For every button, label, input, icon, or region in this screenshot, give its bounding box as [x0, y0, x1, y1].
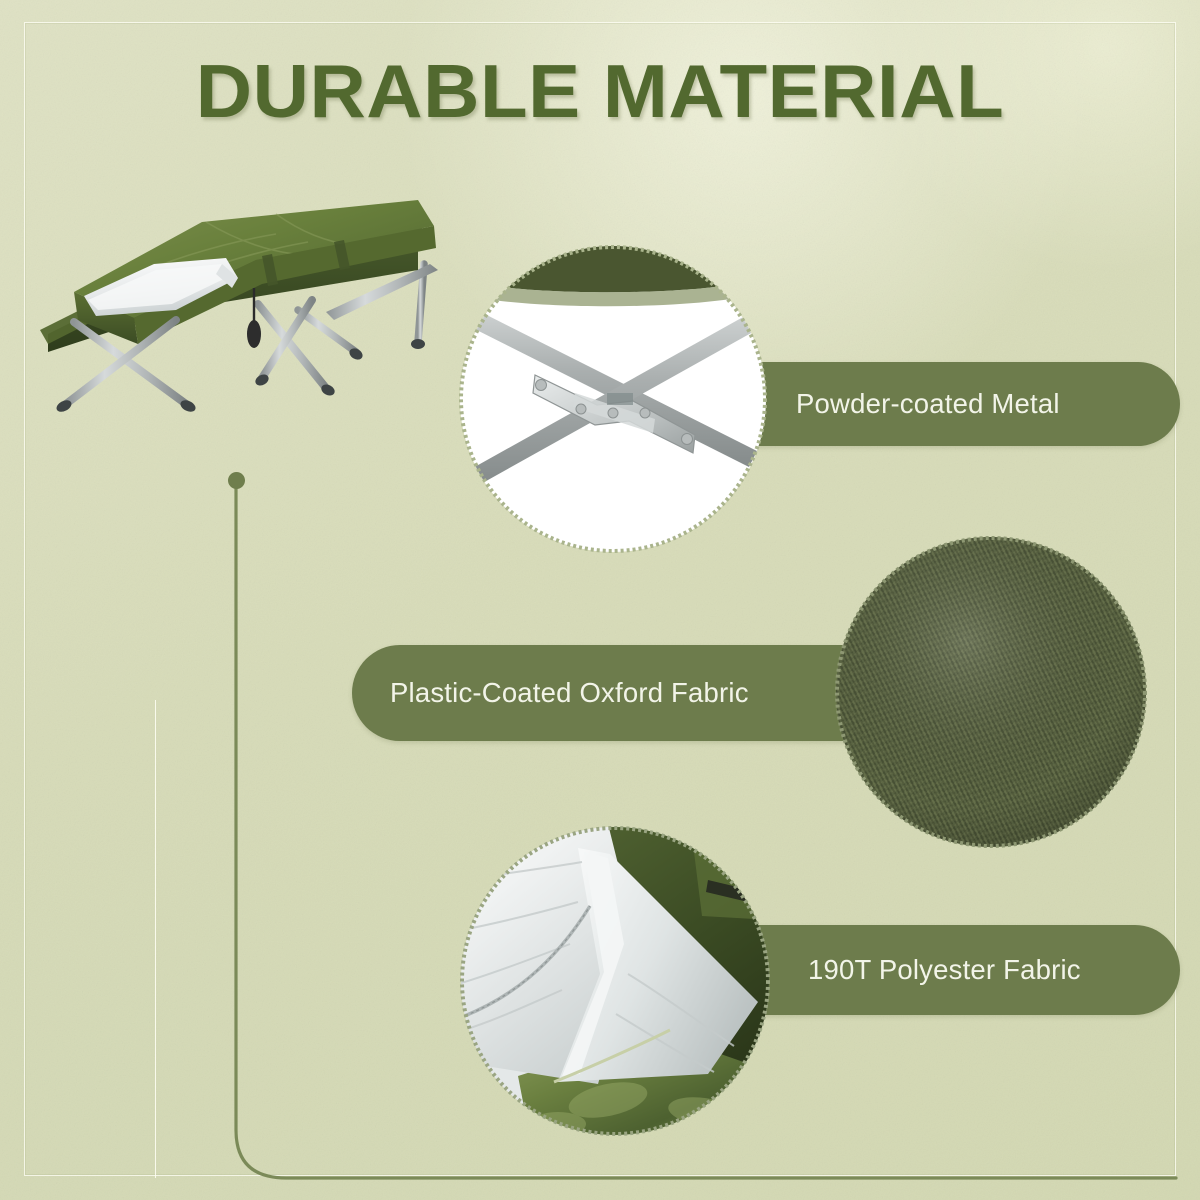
feature-label-metal-text: Powder-coated Metal — [796, 388, 1060, 420]
hero-product-image — [26, 192, 456, 482]
sleeping-bag-lining-icon — [458, 824, 772, 1138]
page-title: DURABLE MATERIAL — [0, 54, 1200, 129]
metal-joint-icon — [457, 243, 769, 555]
feature-label-oxford-text: Plastic-Coated Oxford Fabric — [390, 677, 749, 709]
frame-accent-line — [155, 700, 156, 1178]
feature-label-polyester-text: 190T Polyester Fabric — [808, 954, 1081, 986]
woven-fabric-icon — [833, 534, 1149, 850]
